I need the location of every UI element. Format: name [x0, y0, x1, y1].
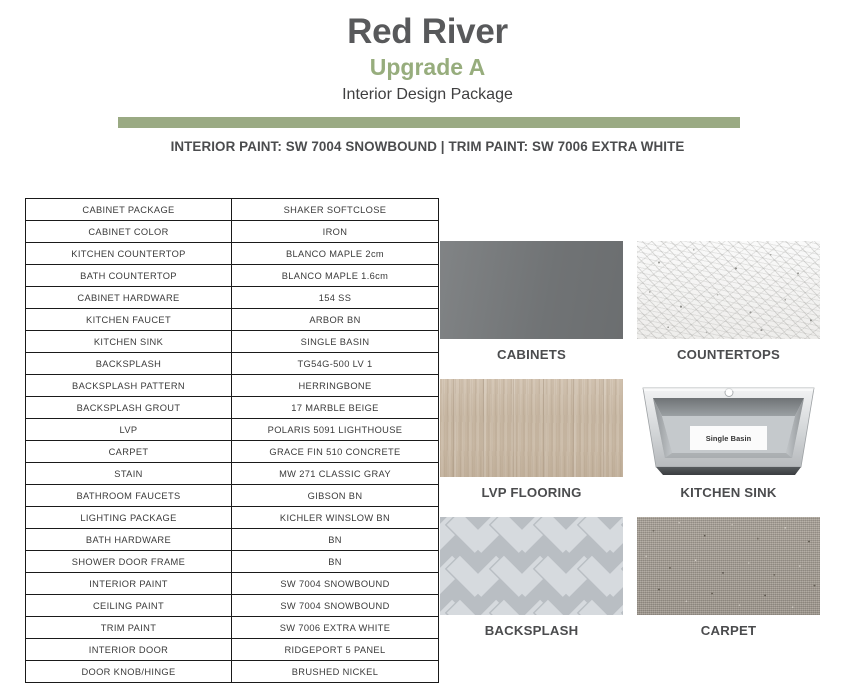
page-header: Red River Upgrade A Interior Design Pack… — [0, 0, 855, 103]
swatch-cell-countertops: COUNTERTOPS — [637, 241, 820, 371]
spec-value: HERRINGBONE — [232, 375, 439, 397]
table-row: BATH HARDWAREBN — [26, 529, 439, 551]
table-row: BATHROOM FAUCETSGIBSON BN — [26, 485, 439, 507]
table-row: KITCHEN SINKSINGLE BASIN — [26, 331, 439, 353]
page-description: Interior Design Package — [0, 79, 855, 104]
spec-value: KICHLER WINSLOW BN — [232, 507, 439, 529]
spec-value: GIBSON BN — [232, 485, 439, 507]
spec-value: RIDGEPORT 5 PANEL — [232, 639, 439, 661]
spec-label: LIGHTING PACKAGE — [26, 507, 232, 529]
spec-label: CABINET PACKAGE — [26, 199, 232, 221]
table-row: CARPETGRACE FIN 510 CONCRETE — [26, 441, 439, 463]
spec-label: BATHROOM FAUCETS — [26, 485, 232, 507]
spec-value: 154 SS — [232, 287, 439, 309]
spec-value: SINGLE BASIN — [232, 331, 439, 353]
countertops-swatch-label: COUNTERTOPS — [637, 339, 820, 371]
herringbone-tile-pattern-icon — [440, 517, 623, 615]
table-row: INTERIOR PAINTSW 7004 SNOWBOUND — [26, 573, 439, 595]
table-row: KITCHEN FAUCETARBOR BN — [26, 309, 439, 331]
spec-label: INTERIOR PAINT — [26, 573, 232, 595]
table-row: SHOWER DOOR FRAMEBN — [26, 551, 439, 573]
table-row: LIGHTING PACKAGEKICHLER WINSLOW BN — [26, 507, 439, 529]
spec-label: INTERIOR DOOR — [26, 639, 232, 661]
swatch-cell-lvp-flooring: LVP FLOORING — [440, 379, 623, 509]
table-row: BACKSPLASH GROUT17 MARBLE BEIGE — [26, 397, 439, 419]
spec-label: TRIM PAINT — [26, 617, 232, 639]
spec-label: CEILING PAINT — [26, 595, 232, 617]
spec-label: SHOWER DOOR FRAME — [26, 551, 232, 573]
backsplash-swatch-label: BACKSPLASH — [440, 615, 623, 647]
table-row: CABINET COLORIRON — [26, 221, 439, 243]
table-row: BACKSPLASHTG54G-500 LV 1 — [26, 353, 439, 375]
spec-value: 17 MARBLE BEIGE — [232, 397, 439, 419]
kitchen-sink-swatch: Single Basin — [637, 379, 820, 477]
spec-label: KITCHEN SINK — [26, 331, 232, 353]
spec-value: GRACE FIN 510 CONCRETE — [232, 441, 439, 463]
table-row: BACKSPLASH PATTERNHERRINGBONE — [26, 375, 439, 397]
spec-label: CABINET HARDWARE — [26, 287, 232, 309]
spec-label: BATH COUNTERTOP — [26, 265, 232, 287]
spec-value: SW 7004 SNOWBOUND — [232, 573, 439, 595]
sink-basin-label: Single Basin — [690, 426, 767, 450]
page-title: Red River — [0, 0, 855, 51]
paint-summary-line: INTERIOR PAINT: SW 7004 SNOWBOUND | TRIM… — [0, 139, 855, 154]
spec-value: BLANCO MAPLE 2cm — [232, 243, 439, 265]
spec-label: BACKSPLASH — [26, 353, 232, 375]
sink-illustration: Single Basin — [637, 379, 820, 477]
table-row: INTERIOR DOORRIDGEPORT 5 PANEL — [26, 639, 439, 661]
swatch-row-1: CABINETS COUNTERTOPS — [440, 241, 836, 371]
spec-value: SW 7006 EXTRA WHITE — [232, 617, 439, 639]
swatch-cell-cabinets: CABINETS — [440, 241, 623, 371]
spec-value: BRUSHED NICKEL — [232, 661, 439, 683]
spec-label: DOOR KNOB/HINGE — [26, 661, 232, 683]
spec-value: SW 7004 SNOWBOUND — [232, 595, 439, 617]
carpet-swatch-label: CARPET — [637, 615, 820, 647]
specifications-table-body: CABINET PACKAGESHAKER SOFTCLOSE CABINET … — [26, 199, 439, 683]
carpet-swatch — [637, 517, 820, 615]
spec-value: BN — [232, 529, 439, 551]
spec-value: SHAKER SOFTCLOSE — [232, 199, 439, 221]
swatch-row-2: LVP FLOORING — [440, 379, 836, 509]
spec-label: BACKSPLASH GROUT — [26, 397, 232, 419]
spec-label: BACKSPLASH PATTERN — [26, 375, 232, 397]
table-row: DOOR KNOB/HINGEBRUSHED NICKEL — [26, 661, 439, 683]
swatch-cell-carpet: CARPET — [637, 517, 820, 647]
spec-label: KITCHEN FAUCET — [26, 309, 232, 331]
backsplash-swatch — [440, 517, 623, 615]
spec-value: POLARIS 5091 LIGHTHOUSE — [232, 419, 439, 441]
spec-label: CARPET — [26, 441, 232, 463]
swatch-cell-kitchen-sink: Single Basin KITCHEN SINK — [637, 379, 820, 509]
table-row: LVPPOLARIS 5091 LIGHTHOUSE — [26, 419, 439, 441]
kitchen-sink-swatch-label: KITCHEN SINK — [637, 477, 820, 509]
spec-value: IRON — [232, 221, 439, 243]
material-swatch-grid: CABINETS COUNTERTOPS LVP FLOORING — [440, 241, 836, 655]
spec-value: BN — [232, 551, 439, 573]
spec-label: LVP — [26, 419, 232, 441]
accent-divider-bar — [118, 117, 740, 128]
table-row: CABINET PACKAGESHAKER SOFTCLOSE — [26, 199, 439, 221]
lvp-flooring-swatch — [440, 379, 623, 477]
spec-label: STAIN — [26, 463, 232, 485]
table-row: BATH COUNTERTOPBLANCO MAPLE 1.6cm — [26, 265, 439, 287]
table-row: KITCHEN COUNTERTOPBLANCO MAPLE 2cm — [26, 243, 439, 265]
table-row: CABINET HARDWARE154 SS — [26, 287, 439, 309]
spec-label: CABINET COLOR — [26, 221, 232, 243]
countertops-swatch — [637, 241, 820, 339]
table-row: TRIM PAINTSW 7006 EXTRA WHITE — [26, 617, 439, 639]
table-row: CEILING PAINTSW 7004 SNOWBOUND — [26, 595, 439, 617]
swatch-cell-backsplash: BACKSPLASH — [440, 517, 623, 647]
specifications-table: CABINET PACKAGESHAKER SOFTCLOSE CABINET … — [25, 198, 439, 683]
spec-label: KITCHEN COUNTERTOP — [26, 243, 232, 265]
spec-label: BATH HARDWARE — [26, 529, 232, 551]
cabinets-swatch — [440, 241, 623, 339]
spec-value: BLANCO MAPLE 1.6cm — [232, 265, 439, 287]
cabinets-swatch-label: CABINETS — [440, 339, 623, 371]
spec-value: MW 271 CLASSIC GRAY — [232, 463, 439, 485]
swatch-row-3: BACKSPLASH CARPET — [440, 517, 836, 647]
page-subtitle: Upgrade A — [0, 51, 855, 79]
spec-value: ARBOR BN — [232, 309, 439, 331]
lvp-flooring-swatch-label: LVP FLOORING — [440, 477, 623, 509]
table-row: STAINMW 271 CLASSIC GRAY — [26, 463, 439, 485]
spec-value: TG54G-500 LV 1 — [232, 353, 439, 375]
